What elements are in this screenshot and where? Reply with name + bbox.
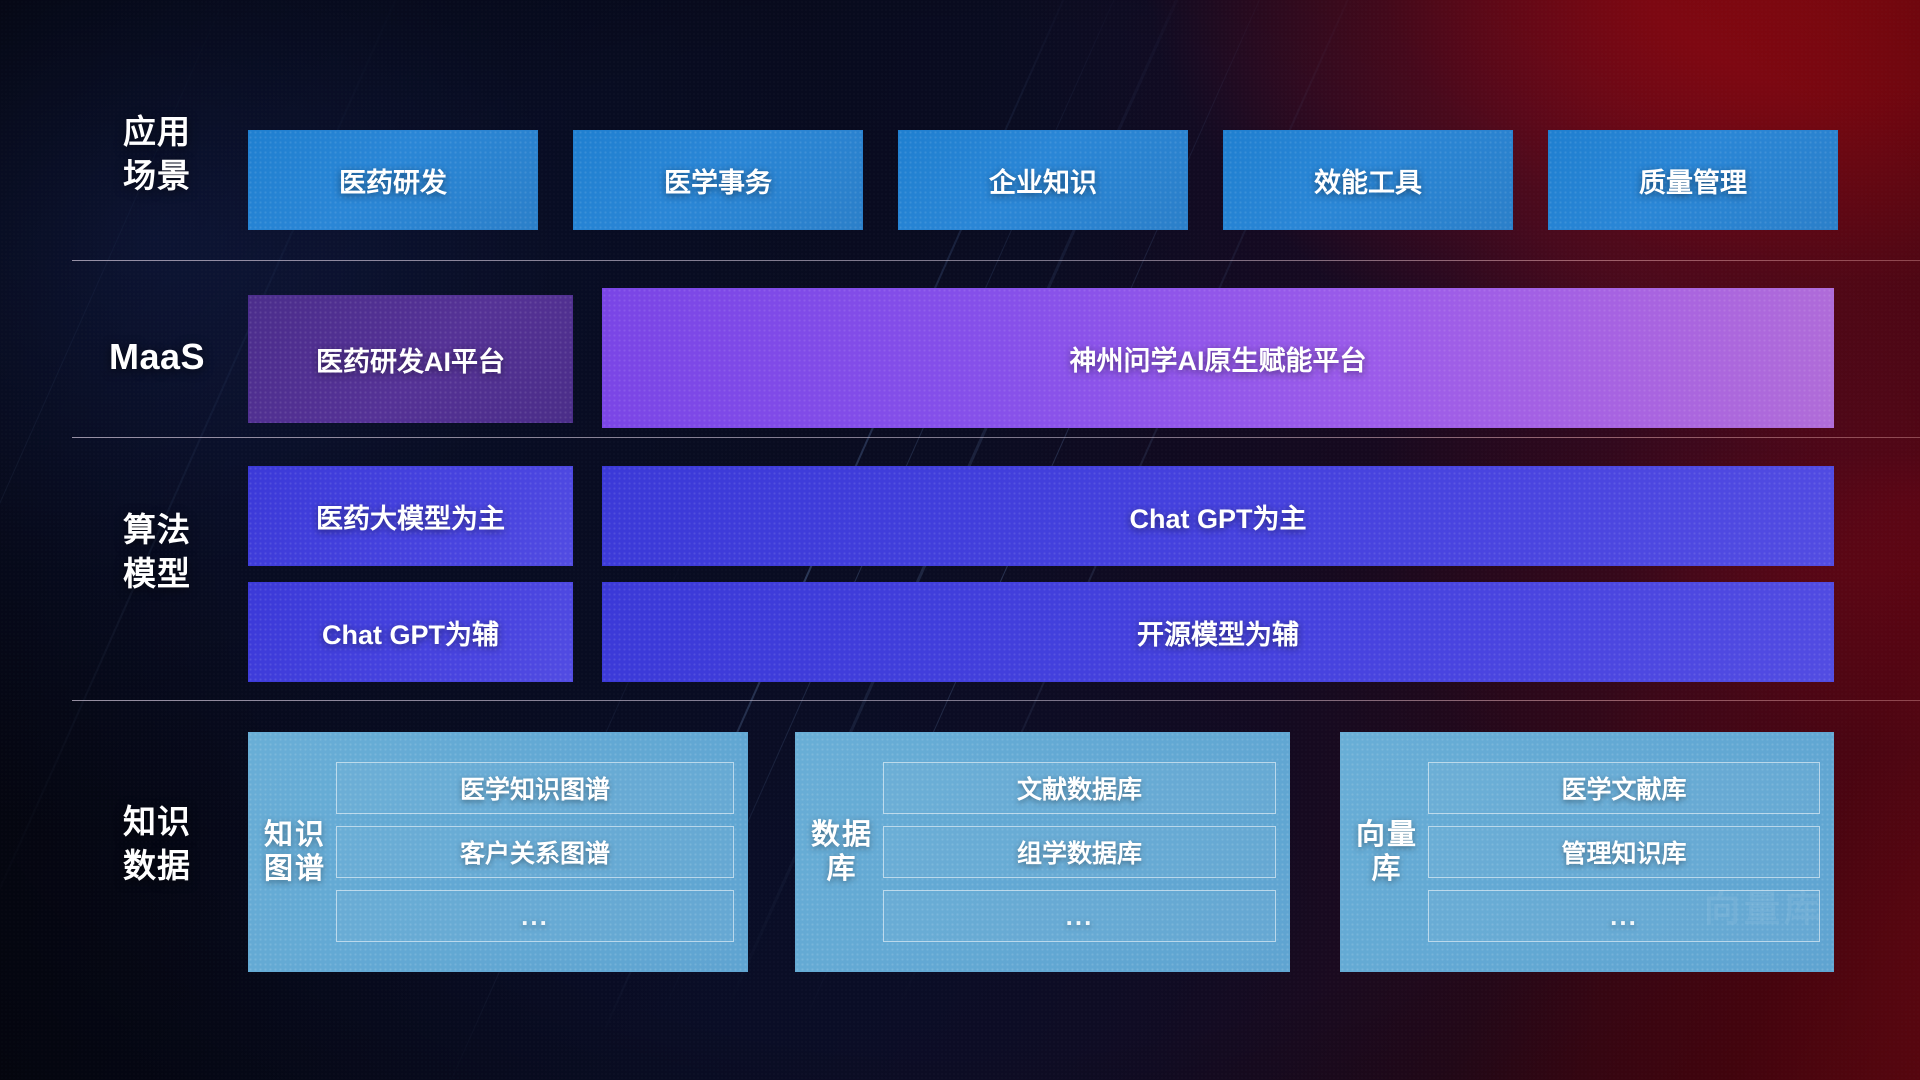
knowledge-item-more[interactable]: ... — [1428, 890, 1820, 942]
maas-right-platform-box[interactable]: 神州问学AI原生赋能平台 — [602, 288, 1834, 428]
scenario-box-5[interactable]: 质量管理 — [1548, 130, 1838, 230]
maas-right-platform-label: 神州问学AI原生赋能平台 — [1070, 339, 1367, 378]
knowledge-group-items: 文献数据库 组学数据库 ... — [879, 762, 1276, 942]
scenario-label: 医学事务 — [664, 161, 772, 200]
scenario-box-1[interactable]: 医药研发 — [248, 130, 538, 230]
knowledge-group-title: 向量库 — [1350, 818, 1424, 886]
algorithm-label: Chat GPT为辅 — [322, 613, 499, 652]
scenario-label: 质量管理 — [1639, 161, 1747, 200]
maas-left-platform-label: 医药研发AI平台 — [316, 340, 505, 379]
knowledge-group-title: 数据库 — [805, 818, 879, 886]
knowledge-item[interactable]: 医学文献库 — [1428, 762, 1820, 814]
algorithm-left-box-1[interactable]: 医药大模型为主 — [248, 466, 573, 566]
knowledge-item-more[interactable]: ... — [336, 890, 734, 942]
row-label-application: 应用 场景 — [72, 110, 242, 198]
row-label-algorithm: 算法 模型 — [72, 508, 242, 596]
scenario-label: 医药研发 — [339, 161, 447, 200]
knowledge-item[interactable]: 医学知识图谱 — [336, 762, 734, 814]
scenario-box-3[interactable]: 企业知识 — [898, 130, 1188, 230]
knowledge-item[interactable]: 客户关系图谱 — [336, 826, 734, 878]
scenario-label: 效能工具 — [1314, 161, 1422, 200]
scenario-box-2[interactable]: 医学事务 — [573, 130, 863, 230]
divider-algorithm-knowledge — [72, 700, 1920, 701]
knowledge-group-title: 知识图谱 — [258, 818, 332, 886]
slide-canvas: 应用 场景 医药研发 医学事务 企业知识 效能工具 质量管理 MaaS 医药研发… — [0, 0, 1920, 1080]
row-label-knowledge: 知识 数据 — [72, 800, 242, 888]
knowledge-group-items: 医学文献库 管理知识库 ... — [1424, 762, 1820, 942]
algorithm-right-box-1[interactable]: Chat GPT为主 — [602, 466, 1834, 566]
algorithm-label: 开源模型为辅 — [1137, 613, 1299, 652]
scenario-box-4[interactable]: 效能工具 — [1223, 130, 1513, 230]
algorithm-label: Chat GPT为主 — [1129, 497, 1306, 536]
divider-maas-algorithm — [72, 437, 1920, 438]
algorithm-right-box-2[interactable]: 开源模型为辅 — [602, 582, 1834, 682]
maas-left-platform-box[interactable]: 医药研发AI平台 — [248, 295, 573, 423]
knowledge-group-vector-store[interactable]: 向量库 医学文献库 管理知识库 ... — [1340, 732, 1834, 972]
algorithm-left-box-2[interactable]: Chat GPT为辅 — [248, 582, 573, 682]
knowledge-group-knowledge-graph[interactable]: 知识图谱 医学知识图谱 客户关系图谱 ... — [248, 732, 748, 972]
knowledge-item[interactable]: 组学数据库 — [883, 826, 1276, 878]
divider-application-maas — [72, 260, 1920, 261]
knowledge-group-database[interactable]: 数据库 文献数据库 组学数据库 ... — [795, 732, 1290, 972]
knowledge-item-more[interactable]: ... — [883, 890, 1276, 942]
knowledge-item[interactable]: 文献数据库 — [883, 762, 1276, 814]
row-label-maas: MaaS — [72, 335, 242, 379]
knowledge-item[interactable]: 管理知识库 — [1428, 826, 1820, 878]
knowledge-group-items: 医学知识图谱 客户关系图谱 ... — [332, 762, 734, 942]
scenario-label: 企业知识 — [989, 161, 1097, 200]
algorithm-label: 医药大模型为主 — [316, 497, 505, 536]
